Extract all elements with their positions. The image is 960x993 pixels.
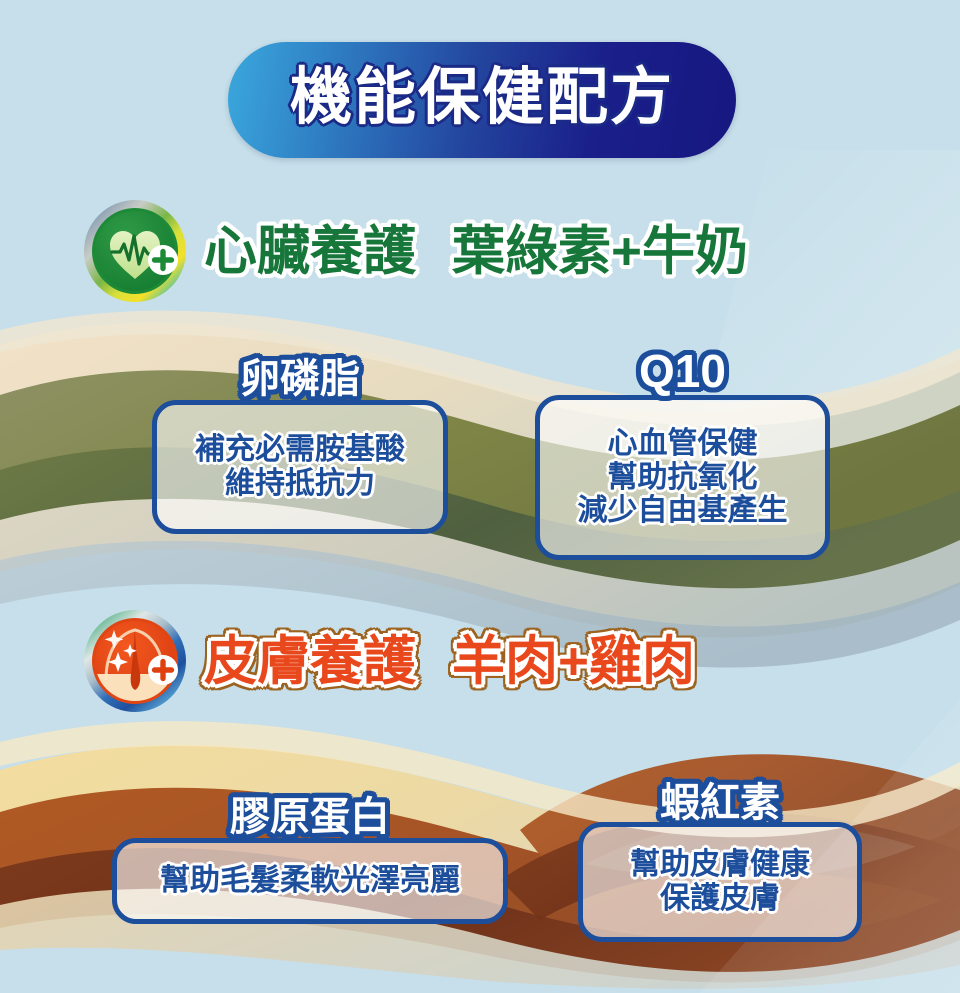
card-line: 維持抵抗力: [195, 467, 405, 501]
card-title-q10: Q10: [639, 348, 726, 394]
poster-canvas: 機能保健配方: [0, 0, 960, 993]
heart-health-icon: [82, 198, 188, 304]
poster-title: 機能保健配方: [290, 67, 674, 133]
card-line: 補充必需胺基酸: [195, 433, 405, 467]
skin-section-flavor: 羊肉+雞肉: [452, 635, 695, 688]
heart-heading-text: 心臟養護 葉綠素+牛奶: [204, 225, 748, 278]
card-body-astaxanthin: 幫助皮膚健康 保護皮膚: [630, 848, 810, 915]
skin-section-label: 皮膚養護: [204, 635, 416, 688]
card-line: 幫助抗氧化: [578, 461, 788, 495]
skin-heading-text: 皮膚養護 羊肉+雞肉: [204, 635, 695, 688]
card-line: 幫助皮膚健康: [630, 848, 810, 882]
card-line: 保護皮膚: [630, 882, 810, 916]
poster-title-banner: 機能保健配方: [228, 42, 736, 158]
card-body-collagen: 幫助毛髮柔軟光澤亮麗: [160, 864, 460, 898]
card-body-q10: 心血管保健 幫助抗氧化 減少自由基產生: [578, 427, 788, 528]
card-title-astaxanthin: 蝦紅素: [660, 783, 780, 823]
card-line: 減少自由基產生: [578, 494, 788, 528]
section-heading-heart: 心臟養護 葉綠素+牛奶: [82, 198, 748, 304]
heart-section-flavor: 葉綠素+牛奶: [452, 225, 748, 278]
card-title-lecithin: 卵磷脂: [240, 359, 360, 399]
card-body-lecithin: 補充必需胺基酸 維持抵抗力: [195, 433, 405, 500]
skin-health-icon: [82, 608, 188, 714]
card-title-collagen: 膠原蛋白: [230, 797, 390, 837]
card-lecithin: 卵磷脂 補充必需胺基酸 維持抵抗力: [152, 400, 448, 534]
heart-section-label: 心臟養護: [204, 225, 416, 278]
card-line: 幫助毛髮柔軟光澤亮麗: [160, 864, 460, 898]
section-heading-skin: 皮膚養護 羊肉+雞肉: [82, 608, 695, 714]
card-line: 心血管保健: [578, 427, 788, 461]
card-astaxanthin: 蝦紅素 幫助皮膚健康 保護皮膚: [578, 822, 862, 942]
card-collagen: 膠原蛋白 幫助毛髮柔軟光澤亮麗: [112, 838, 508, 924]
card-q10: Q10 心血管保健 幫助抗氧化 減少自由基產生: [535, 395, 830, 560]
